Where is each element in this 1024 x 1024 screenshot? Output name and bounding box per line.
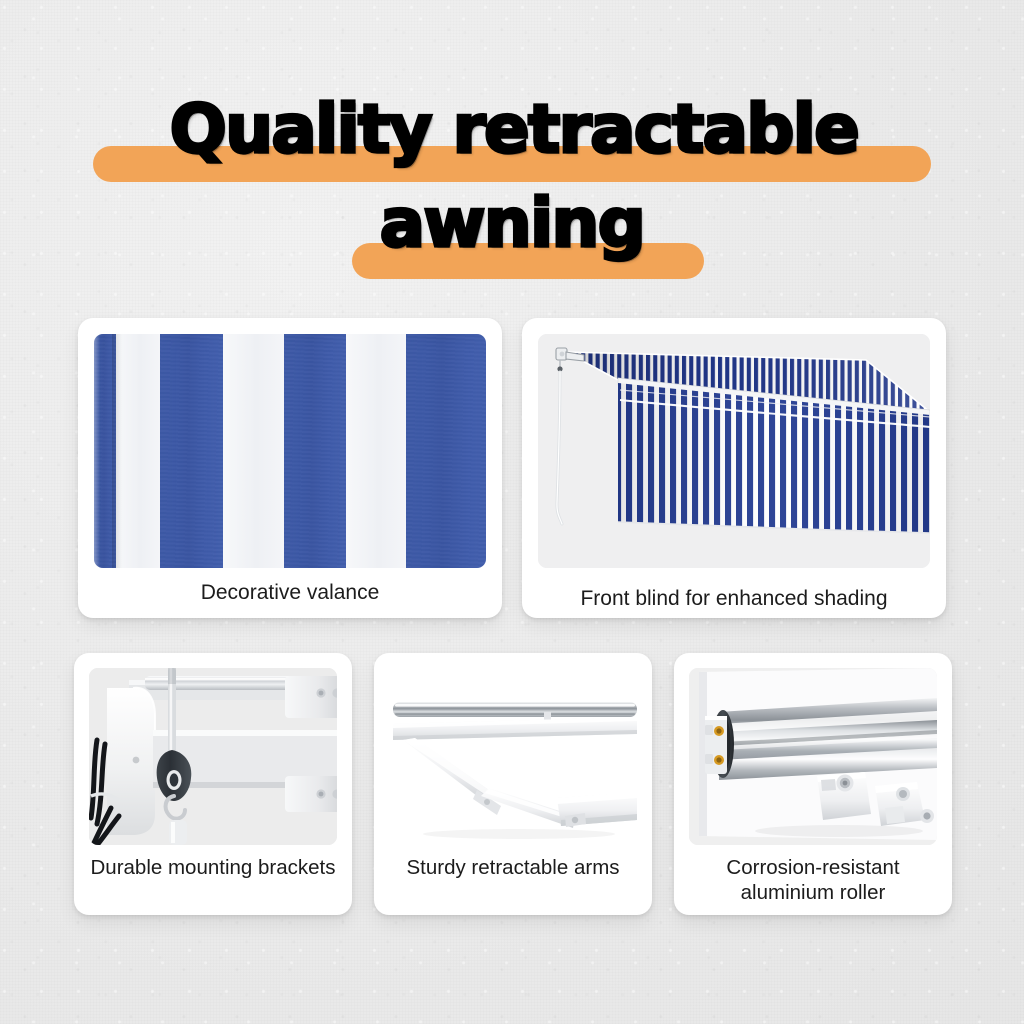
bracket-plate-lower xyxy=(285,776,337,812)
feature-card-front-blind[interactable]: Front blind for enhanced shading xyxy=(522,318,946,618)
feature-card-decorative-valance[interactable]: Decorative valance xyxy=(78,318,502,618)
bracket-illustration xyxy=(89,668,337,845)
headline-text-2: awning xyxy=(380,190,644,257)
mounting-bracket-artwork xyxy=(89,668,337,845)
headline-block: Quality retractable awning xyxy=(0,96,1024,276)
roller-end-plate xyxy=(705,716,727,774)
roller-support-bracket xyxy=(817,772,871,820)
valance-stripe-artwork xyxy=(94,334,486,568)
valance-blue-stripe xyxy=(160,334,223,568)
roller-illustration xyxy=(689,668,937,845)
feature-caption-front-blind: Front blind for enhanced shading xyxy=(528,586,940,612)
arm-illustration xyxy=(389,668,637,845)
awning-wall-bracket xyxy=(556,348,584,361)
feature-image-aluminium-roller xyxy=(689,668,937,845)
feature-caption-retractable-arms: Sturdy retractable arms xyxy=(380,855,646,880)
headline-line-2: awning xyxy=(0,190,1024,276)
aluminium-roller-artwork xyxy=(689,668,937,845)
awning-front-blind-artwork xyxy=(538,334,930,568)
valance-fold-shadow xyxy=(112,334,122,568)
bracket-screw-hole xyxy=(133,757,140,764)
bracket-plate-upper xyxy=(285,676,337,718)
feature-card-aluminium-roller[interactable]: Corrosion-resistant aluminium roller xyxy=(674,653,952,915)
valance-white-stripe xyxy=(116,334,160,568)
feature-image-front-blind xyxy=(538,334,930,568)
bracket-body xyxy=(107,688,155,835)
valance-fold-highlight xyxy=(94,334,100,568)
headline-text-1: Quality retractable xyxy=(166,96,858,163)
feature-caption-decorative-valance: Decorative valance xyxy=(84,580,496,606)
valance-white-stripe xyxy=(346,334,406,568)
valance-blue-stripe xyxy=(406,334,486,568)
headline-line-1: Quality retractable xyxy=(0,96,1024,182)
feature-card-retractable-arms[interactable]: Sturdy retractable arms xyxy=(374,653,652,915)
feature-caption-aluminium-roller: Corrosion-resistant aluminium roller xyxy=(680,855,946,906)
valance-blue-stripe xyxy=(284,334,346,568)
infographic-page: Quality retractable awning Decorative va… xyxy=(0,0,1024,1024)
feature-image-retractable-arms xyxy=(389,668,637,845)
awning-illustration xyxy=(538,334,930,568)
retractable-arm-artwork xyxy=(389,668,637,845)
feature-image-decorative-valance xyxy=(94,334,486,568)
feature-image-mounting-brackets xyxy=(89,668,337,845)
valance-white-stripe xyxy=(223,334,284,568)
feature-caption-mounting-brackets: Durable mounting brackets xyxy=(80,855,346,880)
feature-card-mounting-brackets[interactable]: Durable mounting brackets xyxy=(74,653,352,915)
